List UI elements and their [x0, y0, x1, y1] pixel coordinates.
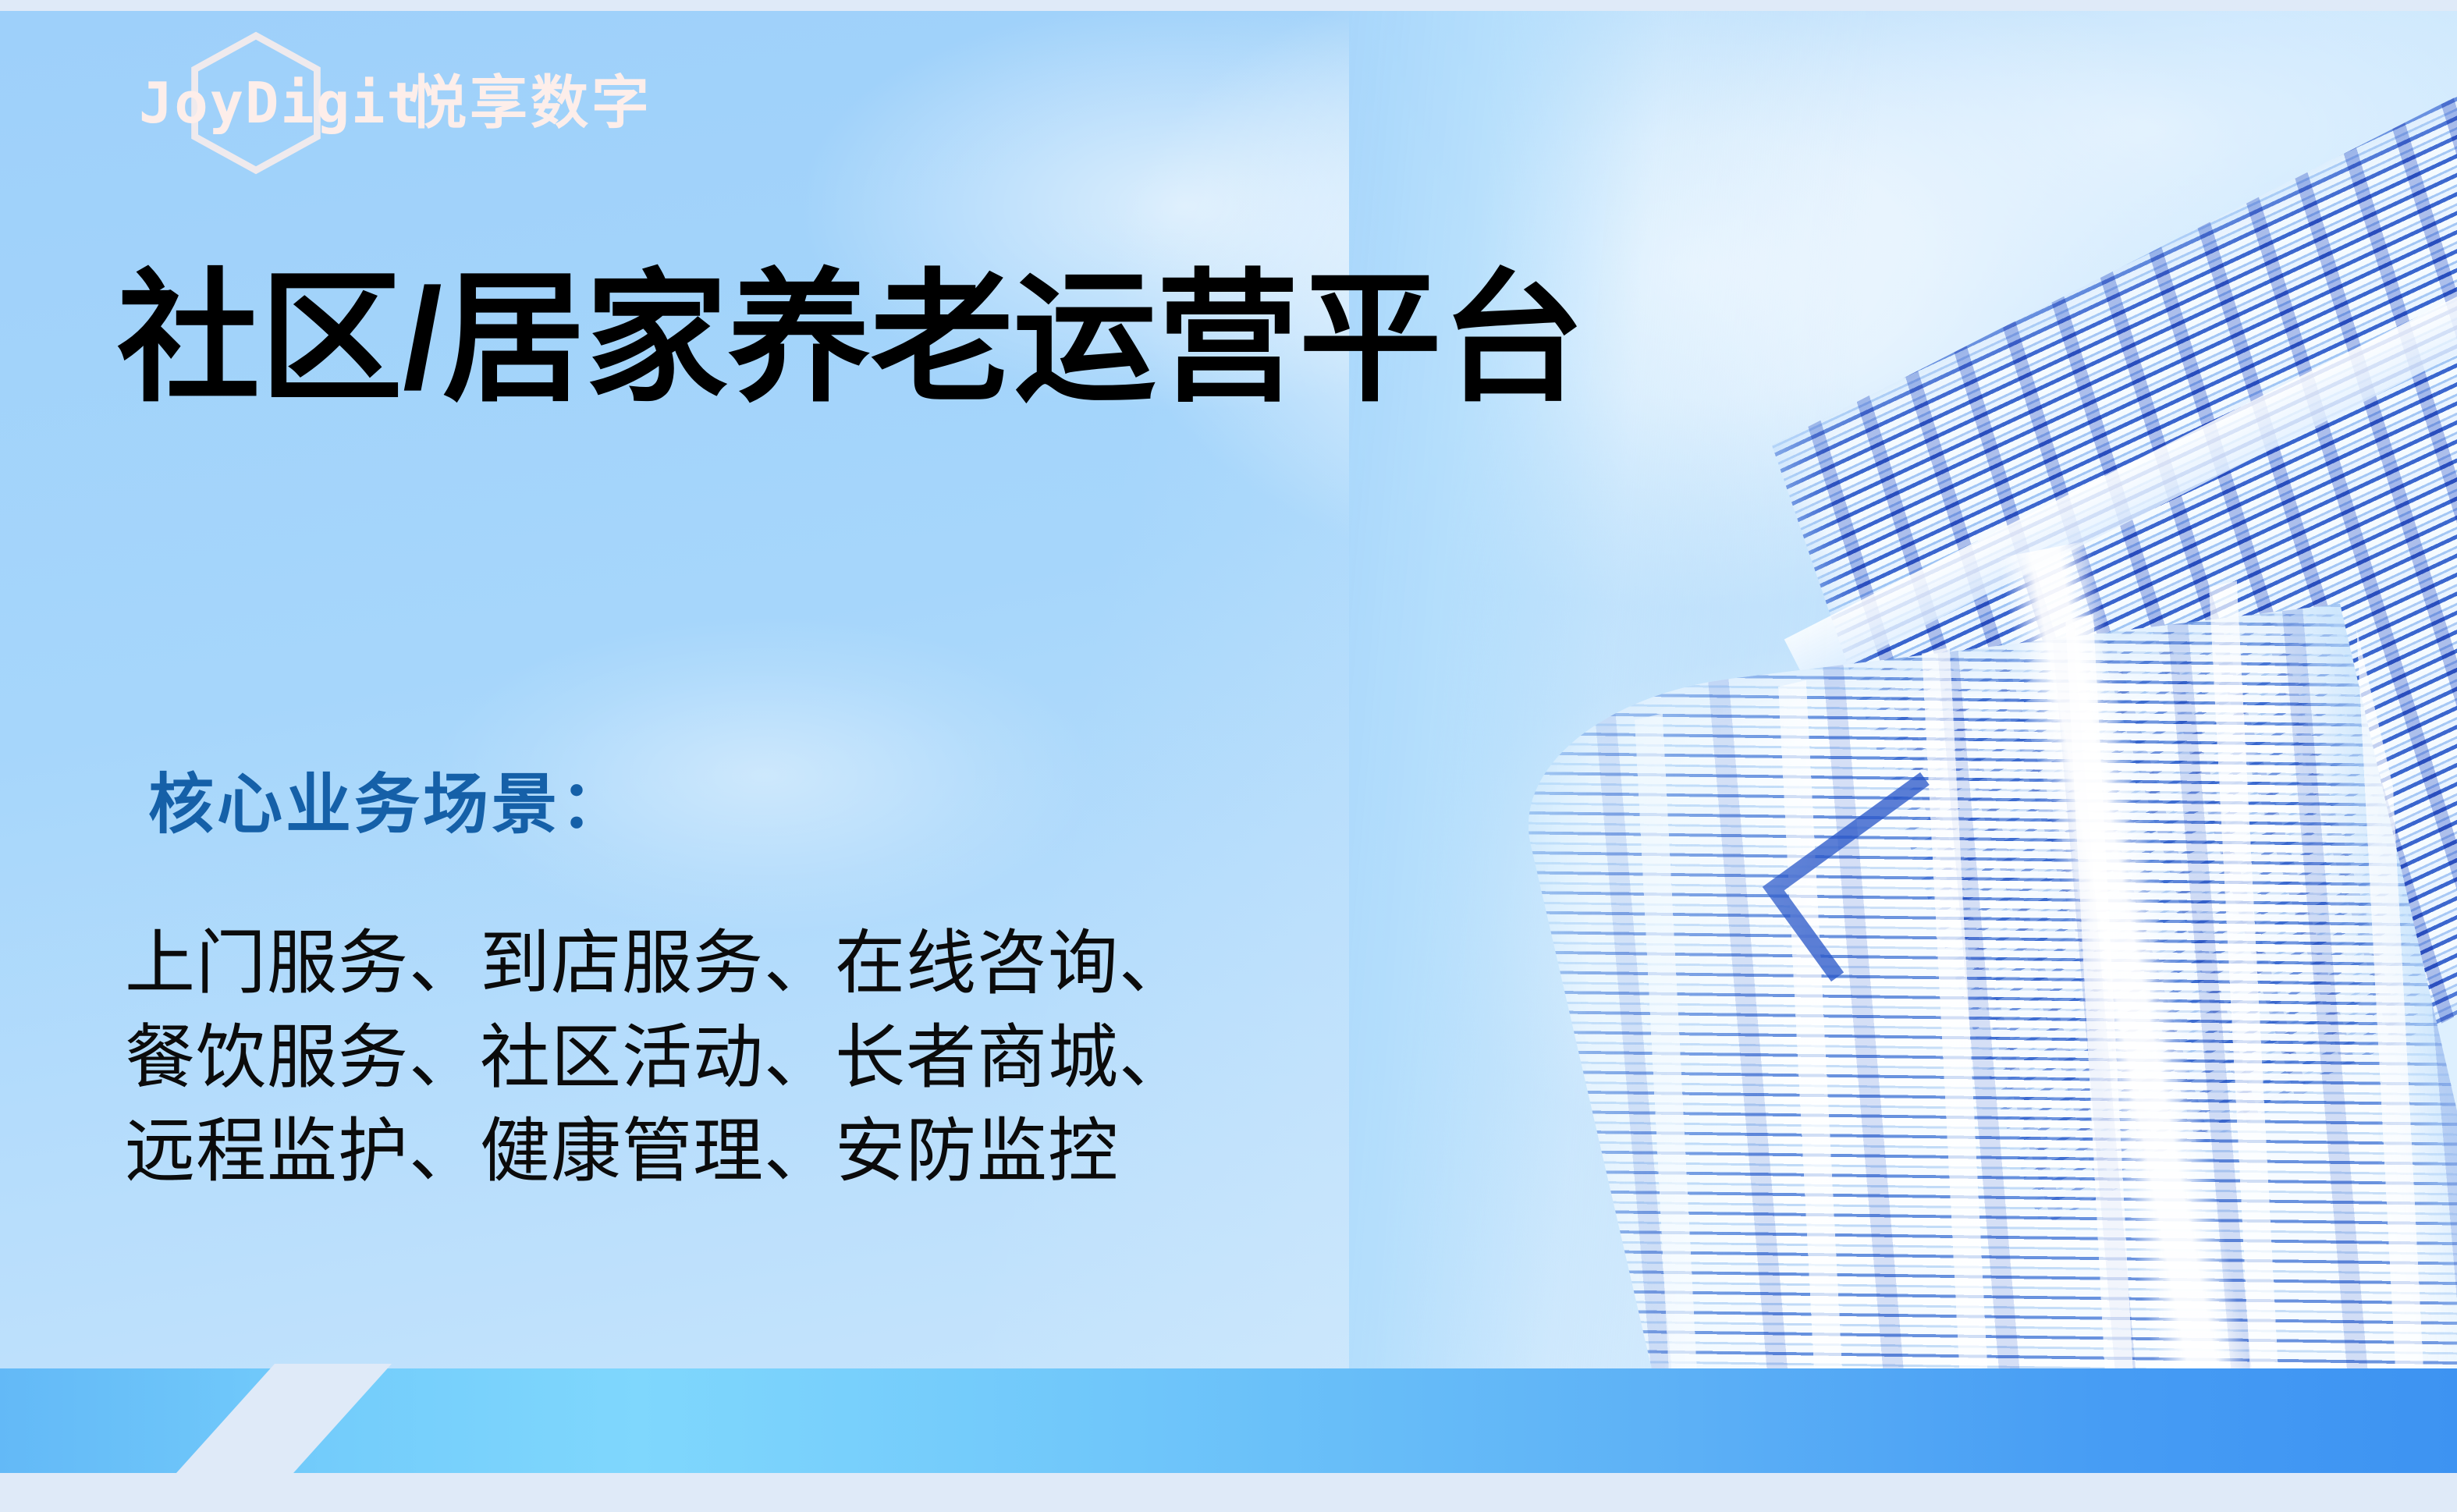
scenario-line: 餐饮服务、社区活动、长者商城、 [125, 1011, 1190, 1106]
top-edge-strip [0, 0, 2457, 11]
skyscraper-photo [1349, 11, 2457, 1384]
logo-chinese-name: 悦享数字 [409, 74, 652, 132]
scenario-line: 远程监护、健康管理、安防监控 [125, 1105, 1190, 1199]
tower-near-pilasters [1519, 557, 2457, 1384]
brand-logo: JoyDigit 悦享数字 [139, 67, 652, 139]
page-title: 社区/居家养老运营平台 [117, 261, 1585, 416]
logo-mark: JoyDigit [139, 67, 389, 139]
scenario-line: 上门服务、到店服务、在线咨询、 [125, 917, 1190, 1011]
slide-root: JoyDigit 悦享数字 社区/居家养老运营平台 核心业务场景： 上门服务、到… [0, 0, 2457, 1512]
bottom-decor-band [0, 1368, 2457, 1512]
section-heading: 核心业务场景： [148, 768, 629, 840]
scenario-list: 上门服务、到店服务、在线咨询、 餐饮服务、社区活动、长者商城、 远程监护、健康管… [125, 917, 1190, 1199]
logo-wordmark: JoyDigit [139, 75, 422, 131]
